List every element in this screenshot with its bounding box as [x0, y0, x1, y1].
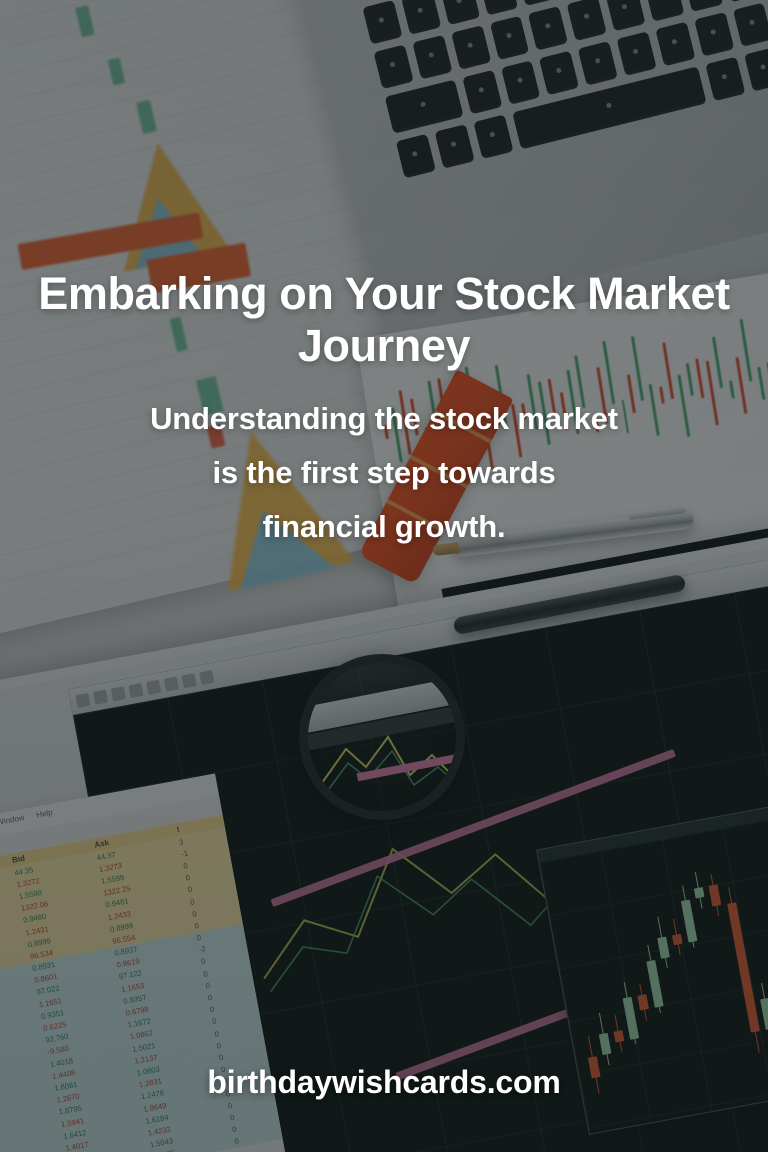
- watermark-url: birthdaywishcards.com: [0, 1064, 768, 1101]
- subtitle-line-1: Understanding the stock market: [0, 392, 768, 446]
- subtitle-line-3: financial growth.: [0, 500, 768, 554]
- page-title: Embarking on Your Stock Market Journey: [0, 268, 768, 372]
- subtitle: Understanding the stock market is the fi…: [0, 392, 768, 554]
- social-quote-card: Volume Price Profit Buy 0.10 EURUSD 1.33…: [0, 0, 768, 1152]
- subtitle-line-2: is the first step towards: [0, 446, 768, 500]
- text-content: Embarking on Your Stock Market Journey U…: [0, 0, 768, 1152]
